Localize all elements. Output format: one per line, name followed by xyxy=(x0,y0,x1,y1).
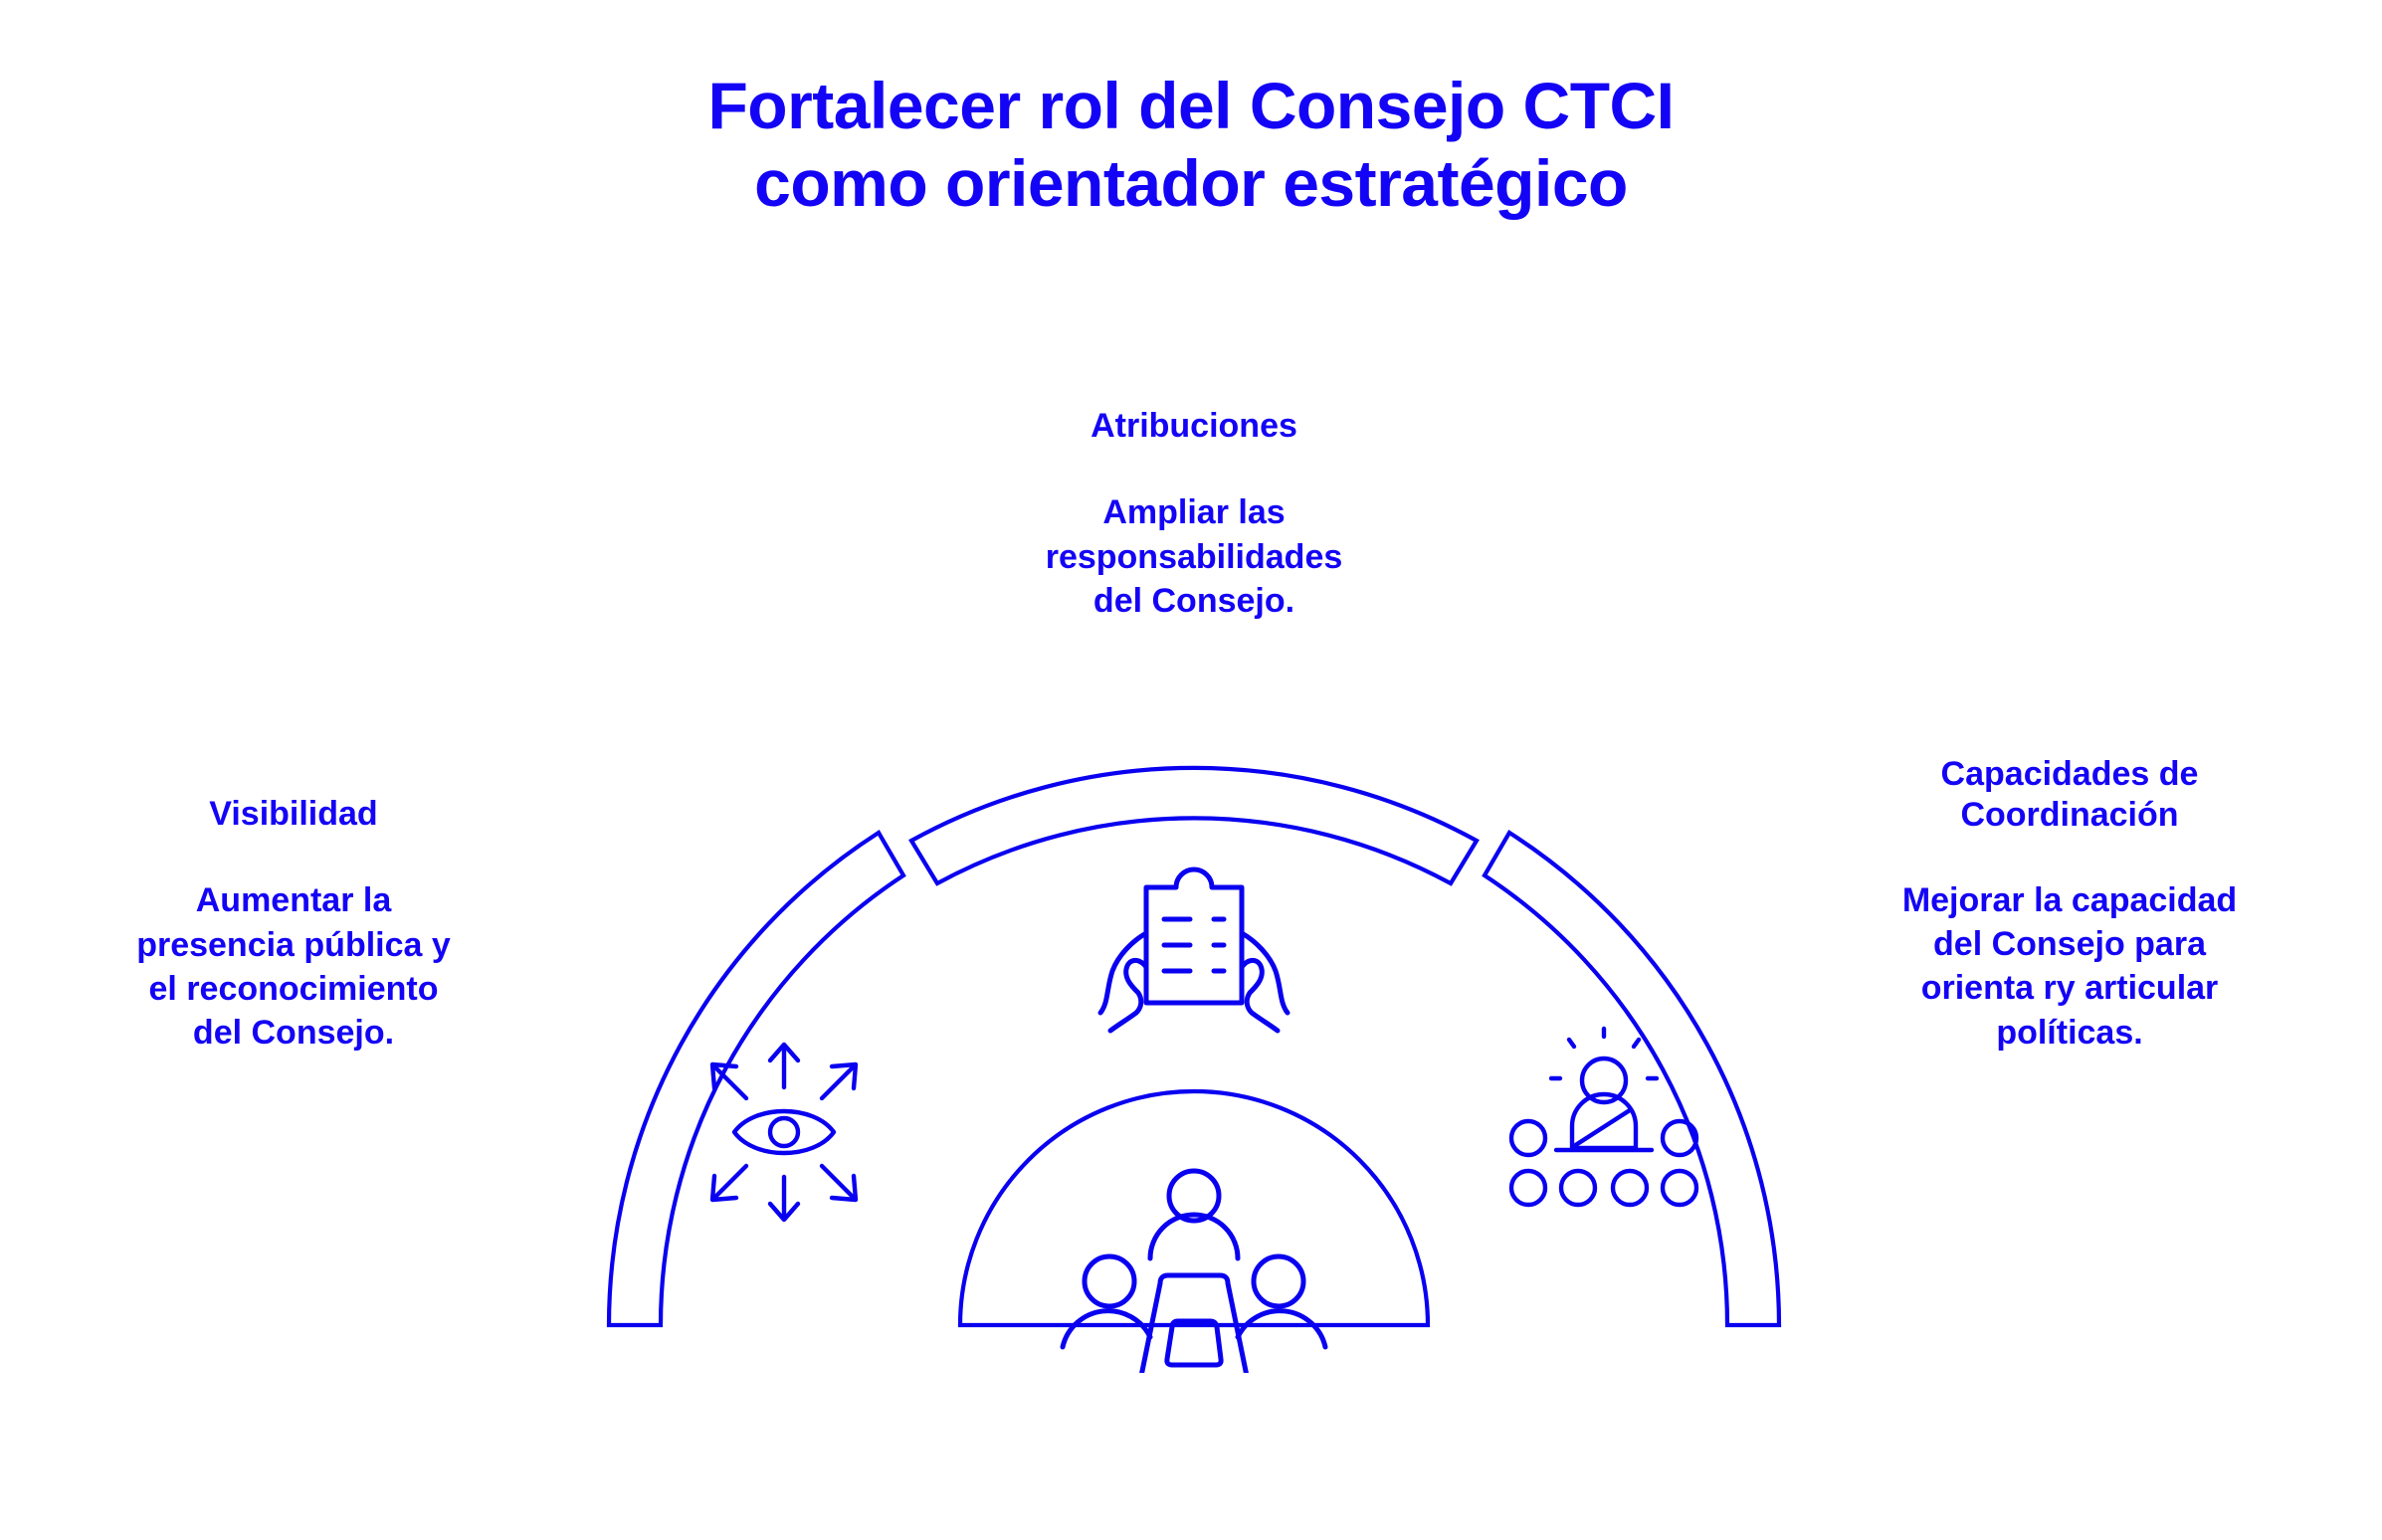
callout-visibilidad-body-line-1: Aumentar la xyxy=(30,878,557,922)
callout-visibilidad-heading: Visibilidad xyxy=(30,794,557,835)
callout-capacidades-body-line-2: del Consejo para xyxy=(1791,922,2348,966)
callout-visibilidad-body-line-4: del Consejo. xyxy=(30,1011,557,1055)
page-title-line-1: Fortalecer rol del Consejo CTCI xyxy=(0,68,2382,145)
callout-atribuciones-body-line-3: del Consejo. xyxy=(893,579,1495,623)
fan-diagram xyxy=(577,756,1811,1373)
callout-visibilidad-body: Aumentar la presencia pública y el recon… xyxy=(30,878,557,1055)
callout-visibilidad-body-line-3: el reconocimiento xyxy=(30,967,557,1011)
segment-atribuciones[interactable] xyxy=(911,768,1477,883)
callout-capacidades-heading-line-2: Coordinación xyxy=(1791,795,2348,836)
callout-capacidades-body-line-4: políticas. xyxy=(1791,1011,2348,1055)
segment-capacidades[interactable] xyxy=(1485,833,1779,1325)
callout-capacidades-body: Mejorar la capacidad del Consejo para or… xyxy=(1791,878,2348,1055)
clipboard-in-hands-icon xyxy=(1100,869,1288,1031)
callout-capacidades: Capacidades de Coordinación Mejorar la c… xyxy=(1791,754,2348,1055)
callout-atribuciones-heading: Atribuciones xyxy=(893,406,1495,447)
callout-visibilidad-body-line-2: presencia pública y xyxy=(30,923,557,967)
callout-capacidades-body-line-3: orienta ry articular xyxy=(1791,966,2348,1010)
callout-atribuciones: Atribuciones Ampliar las responsabilidad… xyxy=(893,406,1495,623)
segment-center-council[interactable] xyxy=(960,1091,1428,1325)
segment-visibilidad[interactable] xyxy=(609,833,903,1325)
page-title-line-2: como orientador estratégico xyxy=(0,145,2382,223)
callout-visibilidad: Visibilidad Aumentar la presencia públic… xyxy=(30,794,557,1055)
fan-diagram-svg xyxy=(577,756,1811,1373)
eye-expand-arrows-icon xyxy=(712,1045,856,1220)
callout-atribuciones-body-line-1: Ampliar las xyxy=(893,490,1495,534)
callout-capacidades-body-line-1: Mejorar la capacidad xyxy=(1791,878,2348,922)
speaker-audience-icon xyxy=(1511,1029,1696,1205)
callout-atribuciones-body: Ampliar las responsabilidades del Consej… xyxy=(893,490,1495,623)
callout-atribuciones-body-line-2: responsabilidades xyxy=(893,535,1495,579)
callout-capacidades-heading-line-1: Capacidades de xyxy=(1791,754,2348,795)
page-title: Fortalecer rol del Consejo CTCI como ori… xyxy=(0,68,2382,223)
council-meeting-table-icon xyxy=(1063,1171,1325,1373)
callout-capacidades-heading: Capacidades de Coordinación xyxy=(1791,754,2348,837)
